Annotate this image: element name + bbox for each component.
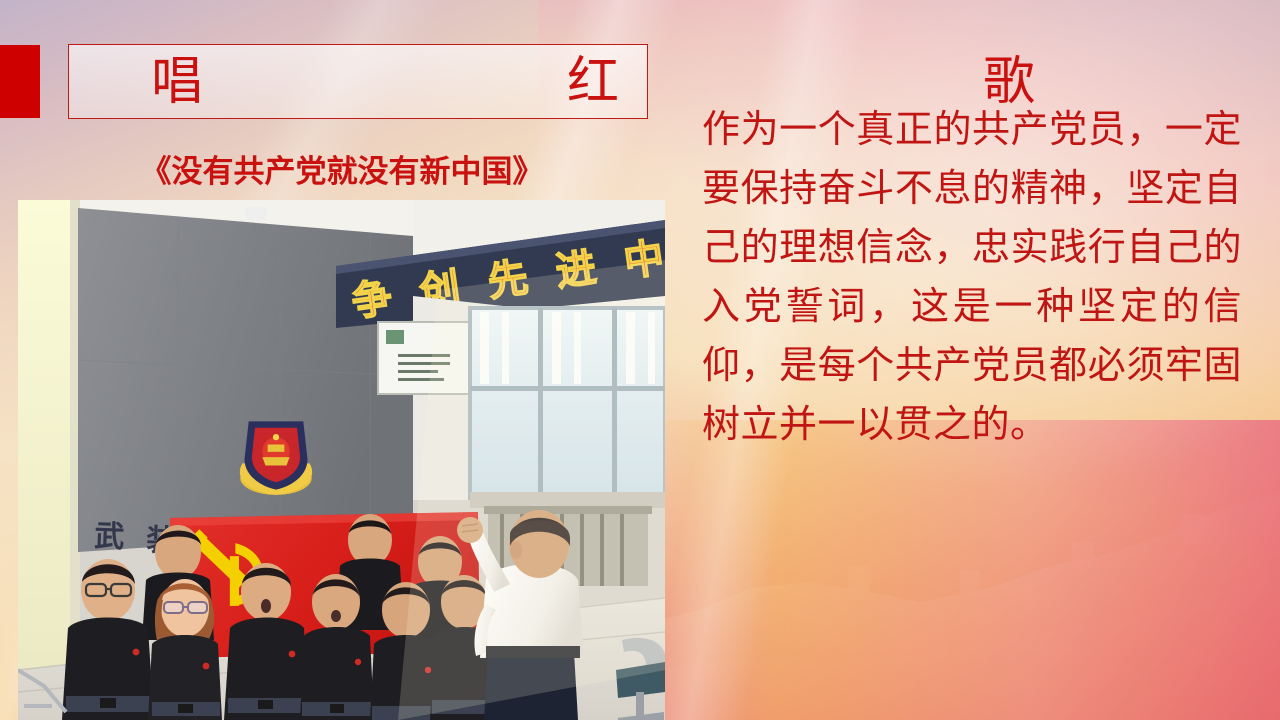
page-title-box: 唱 红 歌 (68, 44, 648, 119)
svg-text:武: 武 (94, 519, 125, 555)
svg-text:争: 争 (349, 275, 395, 326)
song-subtitle: 《没有共产党就没有新中国》 (18, 146, 666, 191)
choir-photo: 武 装 守 护 押 运 中 农 中 队 争 创 (18, 200, 665, 720)
slide-root: 唱 红 歌 《没有共产党就没有新中国》 (0, 0, 1280, 720)
body-paragraph: 作为一个真正的共产党员，一定要保持奋斗不息的精神，坚定自己的理想信念，忠实践行自… (702, 100, 1242, 454)
header-red-accent-block (0, 45, 40, 118)
